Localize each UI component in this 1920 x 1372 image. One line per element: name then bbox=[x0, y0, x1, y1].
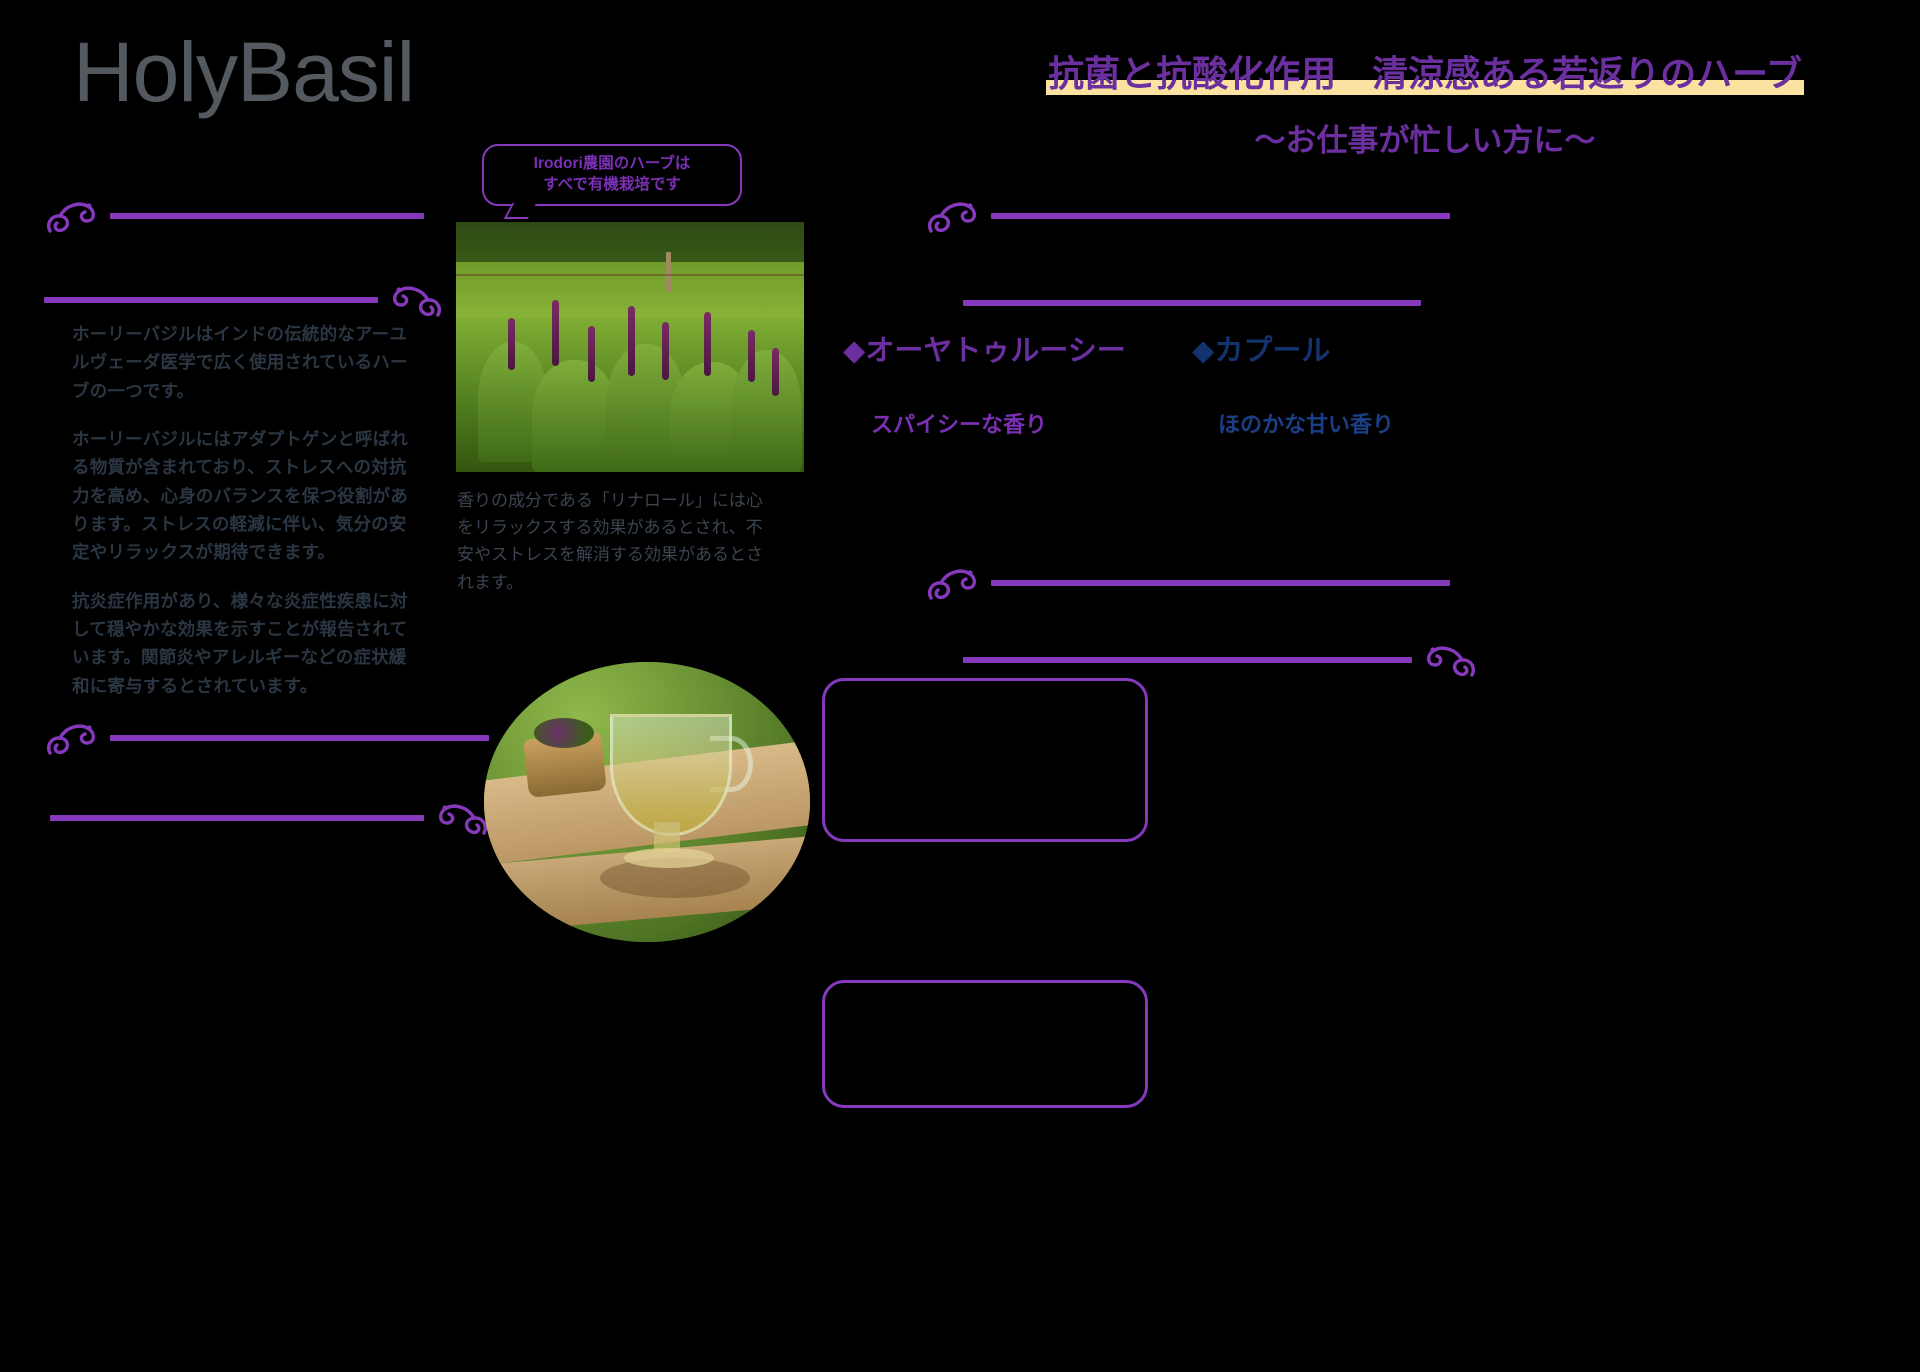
page-title: HolyBasil bbox=[73, 30, 414, 114]
swirl-ornament-icon bbox=[925, 560, 981, 606]
content-box-upper[interactable] bbox=[822, 678, 1148, 842]
holy-basil-field-photo bbox=[456, 222, 804, 472]
swirl-ornament-icon bbox=[44, 193, 100, 239]
balloon-text: Irodori農園のハーブは すべで有機栽培です bbox=[482, 144, 742, 206]
variety-item-0: ◆オーヤトゥルーシー スパイシーな香り bbox=[843, 327, 1126, 439]
paragraph-3: 抗炎症作用があり、様々な炎症性疾患に対して穏やかな効果を示すことが報告されていま… bbox=[72, 587, 424, 700]
divider-left-1 bbox=[44, 193, 424, 239]
paragraph-2: ホーリーバジルにはアダプトゲンと呼ばれる物質が含まれており、ストレスへの対抗力を… bbox=[72, 425, 424, 567]
balloon-line-1: Irodori農園のハーブは bbox=[534, 154, 691, 175]
divider-right-1 bbox=[925, 193, 1450, 239]
content-box-lower[interactable] bbox=[822, 980, 1148, 1108]
variety-name-0: ◆オーヤトゥルーシー bbox=[843, 327, 1126, 369]
variety-scent-0: スパイシーな香り bbox=[871, 407, 1126, 439]
balloon-line-2: すべで有機栽培です bbox=[543, 175, 681, 196]
variety-item-1: ◆カプール ほのかな甘い香り bbox=[1192, 327, 1394, 439]
swirl-ornament-icon bbox=[925, 193, 981, 239]
swirl-ornament-icon bbox=[434, 795, 490, 841]
divider-right-3 bbox=[925, 560, 1450, 606]
headline-block: 抗菌と抗酸化作用 清涼感ある若返りのハーブ bbox=[975, 52, 1875, 97]
left-body-text: ホーリーバジルはインドの伝統的なアーユルヴェーダ医学で広く使用されているハーブの… bbox=[72, 320, 424, 720]
subheadline-text: 〜お仕事が忙しい方に〜 bbox=[975, 115, 1875, 160]
holy-basil-tea-photo bbox=[484, 662, 810, 942]
headline-text: 抗菌と抗酸化作用 清涼感ある若返りのハーブ bbox=[1046, 53, 1804, 95]
variety-marker-icon: ◆ bbox=[843, 333, 865, 367]
variety-marker-icon: ◆ bbox=[1192, 333, 1214, 367]
variety-name-1: ◆カプール bbox=[1192, 327, 1394, 369]
poster-canvas: HolyBasil 抗菌と抗酸化作用 清涼感ある若返りのハーブ 〜お仕事が忙しい… bbox=[0, 0, 1920, 1372]
swirl-ornament-icon bbox=[388, 277, 444, 323]
linalool-caption: 香りの成分である「リナロール」には心をリラックスする効果があるとされ、不安やスト… bbox=[457, 487, 767, 596]
divider-left-3 bbox=[44, 715, 489, 761]
paragraph-1: ホーリーバジルはインドの伝統的なアーユルヴェーダ医学で広く使用されているハーブの… bbox=[72, 320, 424, 405]
swirl-ornament-icon bbox=[1422, 637, 1478, 683]
divider-right-2 bbox=[963, 300, 1421, 306]
divider-left-2 bbox=[44, 277, 444, 323]
divider-right-4 bbox=[963, 637, 1478, 683]
variety-scent-1: ほのかな甘い香り bbox=[1218, 407, 1394, 439]
organic-farming-balloon: Irodori農園のハーブは すべで有機栽培です bbox=[482, 144, 742, 206]
swirl-ornament-icon bbox=[44, 715, 100, 761]
divider-left-4 bbox=[50, 795, 490, 841]
